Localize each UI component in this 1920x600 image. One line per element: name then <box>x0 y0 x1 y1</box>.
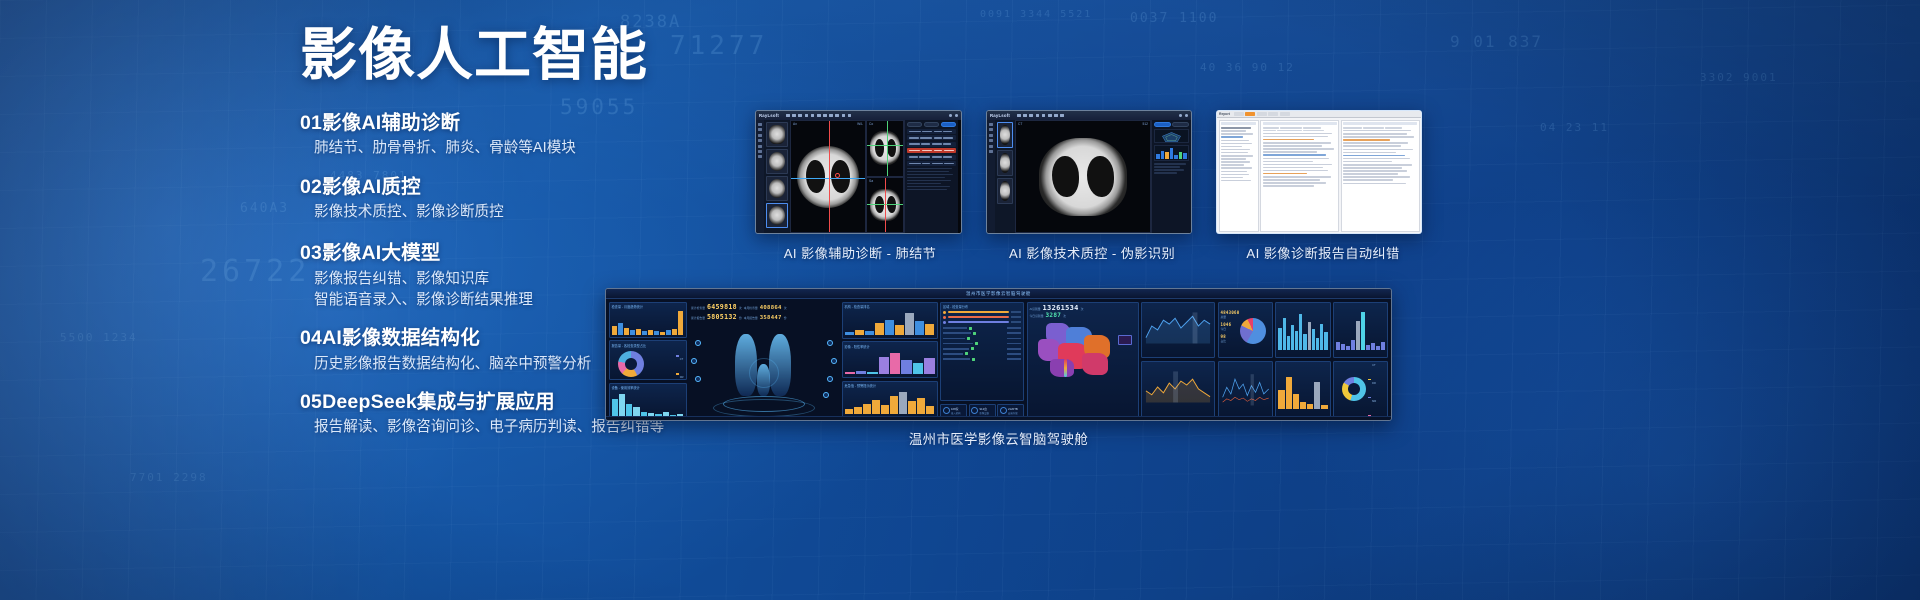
kpi-label: 今日 <box>1221 327 1235 331</box>
series-thumbnail[interactable] <box>766 176 788 201</box>
close-icon[interactable] <box>955 114 958 117</box>
panel-device-efficiency[interactable]: 设备 - 使用效率统计 <box>609 383 687 418</box>
viewport-info: 512 <box>1142 122 1148 126</box>
feature-title-02: 02影像AI质控 <box>300 174 720 200</box>
panel-institution-rank[interactable]: 机构 - 检查量排名 <box>842 302 938 339</box>
dashboard-column-bars: 机构 - 检查量排名 影像 - 阳性率统计 <box>842 302 938 418</box>
panel-tabs[interactable] <box>907 122 956 127</box>
list-item <box>943 316 1021 319</box>
kpi-unit: 次 <box>1063 314 1066 318</box>
screenshot-dashboard[interactable]: 温州市医学影像云智脑驾驶舱 检查量 - 月度趋势统计 <box>605 288 1392 421</box>
panel-title: 报告量 - 各检查类型占比 <box>612 343 647 348</box>
findings-panel[interactable] <box>904 120 958 233</box>
toolbar-tab-active[interactable] <box>1245 112 1255 116</box>
ct-sagittal-viewport[interactable]: Sa <box>866 177 904 234</box>
kpi-label: AI识别量 <box>1030 307 1041 311</box>
hologram-visual <box>689 324 839 418</box>
panel-tab-active[interactable] <box>941 122 956 127</box>
tool-icon[interactable] <box>786 114 790 118</box>
kpi-unit: 份 <box>739 316 742 320</box>
node-icon <box>691 358 697 364</box>
worklist-header <box>1221 122 1256 125</box>
left-toolrail[interactable] <box>987 120 995 233</box>
tool-icon[interactable] <box>829 114 833 118</box>
stat-label: 接入机构 <box>951 411 965 415</box>
stat-label: 影像设备 <box>980 411 994 415</box>
stat-label: 云端存储 <box>1008 411 1022 415</box>
rail-icon[interactable] <box>758 123 762 126</box>
panel-positive-rate[interactable]: 影像 - 阳性率统计 <box>842 341 938 378</box>
tool-icon[interactable] <box>848 114 852 118</box>
crosshair-vertical <box>885 178 886 233</box>
ct-axial-viewport[interactable]: Ax W/L <box>790 120 866 233</box>
panel-kpi-pie[interactable]: 4843060 总量 1046 今日 98 占比 <box>1218 302 1273 359</box>
chart-legend: CT DR <box>676 347 684 380</box>
rail-icon[interactable] <box>758 134 762 137</box>
screenshot-caption-3: AI 影像诊断报告自动纠错 <box>1178 243 1468 262</box>
series-thumbnail[interactable] <box>997 178 1013 204</box>
quality-analysis-panel[interactable] <box>1151 120 1191 233</box>
node-icon <box>695 376 701 382</box>
app-logo: RayLsoft <box>990 113 1010 118</box>
map-region[interactable] <box>1082 353 1108 375</box>
list-item <box>943 311 1021 314</box>
series-thumbnail-selected[interactable] <box>997 122 1013 148</box>
toolbar-tab[interactable] <box>1280 112 1290 116</box>
page-title: 影像人工智能 <box>300 26 720 86</box>
app-logo: Report <box>1219 112 1230 116</box>
node-icon <box>823 392 829 398</box>
panel-header <box>1343 122 1417 125</box>
panel-title: 影像 - 阳性率统计 <box>845 344 935 349</box>
viewport-label: Co <box>869 122 873 126</box>
kpi-label: 累计检查量 <box>691 306 705 310</box>
series-thumbnail-selected[interactable] <box>766 203 788 228</box>
window-controls[interactable] <box>1179 114 1188 117</box>
hologram-ring <box>749 358 779 388</box>
panel-title <box>1144 363 1212 367</box>
panel-title: 机构 - 检查量排名 <box>845 304 935 309</box>
tool-icon[interactable] <box>1042 114 1046 118</box>
feature-title-03: 03影像AI大模型 <box>300 240 720 266</box>
report-corrected-panel[interactable] <box>1341 120 1420 232</box>
panel-title <box>1144 304 1212 308</box>
dashboard-column-left: 检查量 - 月度趋势统计 报告量 - 各检查类型占比 <box>609 302 687 418</box>
feature-desc-01: 肺结节、肋骨骨折、肺炎、骨龄等AI模块 <box>300 138 720 160</box>
finding-row[interactable] <box>907 135 956 140</box>
toolbar-tab[interactable] <box>1234 112 1244 116</box>
feature-desc-02: 影像技术质控、影像诊断质控 <box>300 202 720 224</box>
panel-monthly-trend[interactable]: 检查量 - 月度趋势统计 <box>609 302 687 338</box>
panel-kpi-bars-1[interactable] <box>1275 302 1330 359</box>
list-item <box>943 321 1021 324</box>
hologram-ring <box>713 399 815 417</box>
panel-type-ratio[interactable]: 报告量 - 各检查类型占比 CT DR <box>609 340 687 380</box>
tool-icon[interactable] <box>1060 114 1064 118</box>
stat-icon <box>943 407 950 414</box>
ct-artifact-viewport[interactable]: CT 512 <box>1015 120 1151 233</box>
crosshair-vertical <box>887 121 888 176</box>
toolbar-tab[interactable] <box>1268 112 1278 116</box>
donut-chart <box>1342 377 1366 401</box>
dashboard-wrapper: 温州市医学影像云智脑驾驶舱 检查量 - 月度趋势统计 <box>605 288 1392 421</box>
kpi-unit: 次 <box>1081 307 1084 311</box>
kpi-label: 今日识别量 <box>1030 314 1044 318</box>
panel-line-trend-2[interactable] <box>1141 361 1215 418</box>
ranking-rows <box>943 327 1021 361</box>
dashboard-caption: 温州市医学影像云智脑驾驶舱 <box>605 428 1392 448</box>
left-toolrail[interactable] <box>756 120 764 233</box>
finding-row[interactable] <box>907 155 956 160</box>
tool-icon[interactable] <box>792 114 796 118</box>
bar-chart <box>1336 310 1385 350</box>
panel-title <box>1221 363 1270 367</box>
toolbar-icons[interactable] <box>786 114 851 118</box>
map-region[interactable] <box>1038 339 1060 361</box>
kpi-label: 累计报告量 <box>691 316 705 320</box>
panel-title <box>1278 304 1327 308</box>
kpi-unit: 次 <box>784 306 787 310</box>
dashboard-column-list: 区域 - 检查量分布 <box>940 302 1024 418</box>
tool-icon[interactable] <box>842 114 846 118</box>
node-icon <box>695 340 701 346</box>
bar-chart <box>612 392 684 418</box>
rail-icon[interactable] <box>989 139 993 142</box>
line-chart <box>1144 369 1212 403</box>
region-map[interactable] <box>1030 321 1136 379</box>
toolbar-icons[interactable] <box>1017 114 1064 118</box>
kpi-value: 13261534 <box>1043 304 1079 312</box>
kpi-value: 6459818 <box>707 303 737 311</box>
line-chart <box>1144 310 1212 344</box>
screenshot-row: RayLsoft <box>735 110 1895 285</box>
crosshair-vertical <box>829 121 830 232</box>
stat-icon <box>971 407 978 414</box>
panel-line-trend-1[interactable] <box>1141 302 1215 359</box>
dashboard-title: 温州市医学影像云智脑驾驶舱 <box>966 291 1031 297</box>
series-thumbnail-list[interactable] <box>764 120 790 233</box>
rail-icon[interactable] <box>758 128 762 131</box>
rail-icon[interactable] <box>758 150 762 153</box>
radar-chart <box>1154 129 1189 143</box>
panel-title: 设备 - 使用效率统计 <box>612 385 684 390</box>
kpi-value: 408864 <box>760 305 782 311</box>
minimize-icon[interactable] <box>1179 114 1182 117</box>
viewport-label: Sa <box>869 179 873 183</box>
bar-chart <box>845 311 935 335</box>
tool-icon[interactable] <box>1054 114 1058 118</box>
panel-kpi-bars-2[interactable] <box>1333 302 1388 359</box>
tool-icon[interactable] <box>835 114 839 118</box>
rail-icon[interactable] <box>758 139 762 142</box>
finding-row[interactable] <box>907 161 956 166</box>
panel-kpi-donut[interactable]: CT DR MR US <box>1333 361 1388 418</box>
map-region[interactable] <box>1050 359 1074 377</box>
kpi-label: 总量 <box>1221 315 1235 319</box>
crosshair-horizontal <box>867 145 903 146</box>
kpi-value: 4843060 <box>1221 310 1235 315</box>
panel-ranking-list[interactable]: 区域 - 检查量分布 <box>940 302 1024 402</box>
kpi-label: 本月报告量 <box>744 316 758 320</box>
minimize-icon[interactable] <box>949 114 952 117</box>
kpi-label: 占比 <box>1221 339 1235 343</box>
kpi-unit: 次 <box>739 306 742 310</box>
rail-icon[interactable] <box>989 150 993 153</box>
panel-title: 区域 - 检查量分布 <box>943 304 1021 309</box>
dashboard-header: 温州市医学影像云智脑驾驶舱 <box>606 289 1391 299</box>
tool-icon[interactable] <box>798 114 802 118</box>
tool-icon[interactable] <box>811 114 815 118</box>
quality-bar-chart <box>1154 145 1189 161</box>
panel-title: 检查量 - 月度趋势统计 <box>612 304 684 309</box>
panel-title <box>1278 363 1327 367</box>
report-text-block <box>907 168 956 191</box>
bar-chart <box>1278 369 1327 409</box>
tool-icon[interactable] <box>817 114 821 118</box>
rail-icon[interactable] <box>758 145 762 148</box>
series-thumbnail-list[interactable] <box>995 120 1015 233</box>
feature-item-01: 01影像AI辅助诊断 肺结节、肋骨骨折、肺炎、骨龄等AI模块 <box>300 110 720 160</box>
panel-title: 危急值 - 预警提示统计 <box>845 383 935 388</box>
quality-text-block <box>1154 163 1189 174</box>
close-icon[interactable] <box>1185 114 1188 117</box>
ct-axial-image <box>797 146 859 208</box>
media-column: RayLsoft <box>735 110 1895 285</box>
report-original-panel[interactable] <box>1260 120 1339 232</box>
toolbar-tabs[interactable] <box>1234 112 1290 116</box>
window-controls[interactable] <box>949 114 958 117</box>
worklist-panel[interactable] <box>1219 120 1259 232</box>
chart-legend: CT DR MR US <box>1368 361 1385 418</box>
kpi-label: 本月检查量 <box>744 306 758 310</box>
panel-title <box>1221 304 1270 308</box>
dashboard-footer <box>606 416 1391 420</box>
app-titlebar: RayLsoft <box>987 111 1191 120</box>
map-legend-bar <box>1064 359 1067 377</box>
kpi-value: 3287 <box>1046 312 1062 319</box>
findings-header-row <box>907 129 956 134</box>
rail-icon[interactable] <box>989 123 993 126</box>
kpi-value: 5805132 <box>707 313 737 321</box>
screenshot-ct-nodule[interactable]: RayLsoft <box>755 110 962 234</box>
ct-coronal-image <box>870 131 900 165</box>
node-icon <box>831 358 837 364</box>
tool-icon[interactable] <box>823 114 827 118</box>
rail-icon[interactable] <box>989 128 993 131</box>
series-thumbnail[interactable] <box>997 150 1013 176</box>
panel-region-map[interactable]: AI识别量 13261534 次 今日识别量 3287 次 <box>1027 302 1139 418</box>
screenshot-ct-artifact[interactable]: RayLsoft <box>986 110 1192 234</box>
pie-chart <box>1240 318 1266 344</box>
rail-icon[interactable] <box>758 155 762 158</box>
kpi-unit: 份 <box>784 316 787 320</box>
finding-row[interactable] <box>907 142 956 147</box>
rail-icon[interactable] <box>989 145 993 148</box>
ct-artifact-image <box>1039 138 1127 216</box>
panel-header <box>1263 122 1337 125</box>
panel-tab[interactable] <box>1172 122 1189 127</box>
panel-title <box>1336 304 1385 308</box>
feature-item-02: 02影像AI质控 影像技术质控、影像诊断质控 <box>300 174 720 224</box>
tool-icon[interactable] <box>1017 114 1021 118</box>
nodule-marker <box>835 173 840 178</box>
series-thumbnail[interactable] <box>766 149 788 174</box>
dashboard-column-hologram: 累计检查量 6459818 次 本月检查量 408864 次 累计报告量 580… <box>689 302 839 418</box>
finding-row-alert[interactable] <box>907 148 956 153</box>
tool-icon[interactable] <box>1023 114 1027 118</box>
screenshot-report-correction[interactable]: Report <box>1216 110 1422 234</box>
bar-chart <box>845 390 935 414</box>
series-thumbnail[interactable] <box>766 122 788 147</box>
rail-icon[interactable] <box>989 134 993 137</box>
app-titlebar: RayLsoft <box>756 111 961 120</box>
panel-critical-alert[interactable]: 危急值 - 预警提示统计 <box>842 381 938 418</box>
node-icon <box>827 376 833 382</box>
tool-icon[interactable] <box>1029 114 1033 118</box>
panel-tab-active[interactable] <box>1154 122 1171 127</box>
viewport-label: CT <box>1018 122 1022 126</box>
line-chart <box>1221 369 1270 409</box>
tool-icon[interactable] <box>805 114 809 118</box>
panel-tab[interactable] <box>907 122 922 127</box>
viewport-label: Ax <box>793 122 797 126</box>
dashboard-column-lines <box>1141 302 1215 418</box>
app-titlebar: Report <box>1217 111 1421 118</box>
map-tooltip <box>1118 335 1132 345</box>
bar-chart <box>612 311 684 335</box>
crosshair-horizontal <box>791 178 865 179</box>
viewport-info: W/L <box>857 122 863 126</box>
panel-kpi-line[interactable] <box>1218 361 1273 418</box>
panel-kpi-bars-3[interactable] <box>1275 361 1330 418</box>
dashboard-column-map: AI识别量 13261534 次 今日识别量 3287 次 <box>1027 302 1139 418</box>
bar-chart <box>1278 310 1327 350</box>
radar-chart-svg <box>1155 131 1188 143</box>
tool-icon[interactable] <box>1036 114 1040 118</box>
panel-tab[interactable] <box>924 122 939 127</box>
toolbar-tab[interactable] <box>1257 112 1267 116</box>
app-logo: RayLsoft <box>759 113 779 118</box>
feature-title-01: 01影像AI辅助诊断 <box>300 110 720 136</box>
bar-chart <box>845 350 935 374</box>
kpi-value: 358447 <box>760 315 782 321</box>
ct-coronal-viewport[interactable]: Co <box>866 120 904 177</box>
kpi-block: 累计检查量 6459818 次 本月检查量 408864 次 累计报告量 580… <box>689 302 839 322</box>
tool-icon[interactable] <box>1048 114 1052 118</box>
panel-tabs[interactable] <box>1154 122 1189 127</box>
donut-chart <box>618 351 644 377</box>
node-icon <box>827 340 833 346</box>
stat-icon <box>1000 407 1007 414</box>
dashboard-column-kpi-grid: 4843060 总量 1046 今日 98 占比 <box>1218 302 1389 418</box>
